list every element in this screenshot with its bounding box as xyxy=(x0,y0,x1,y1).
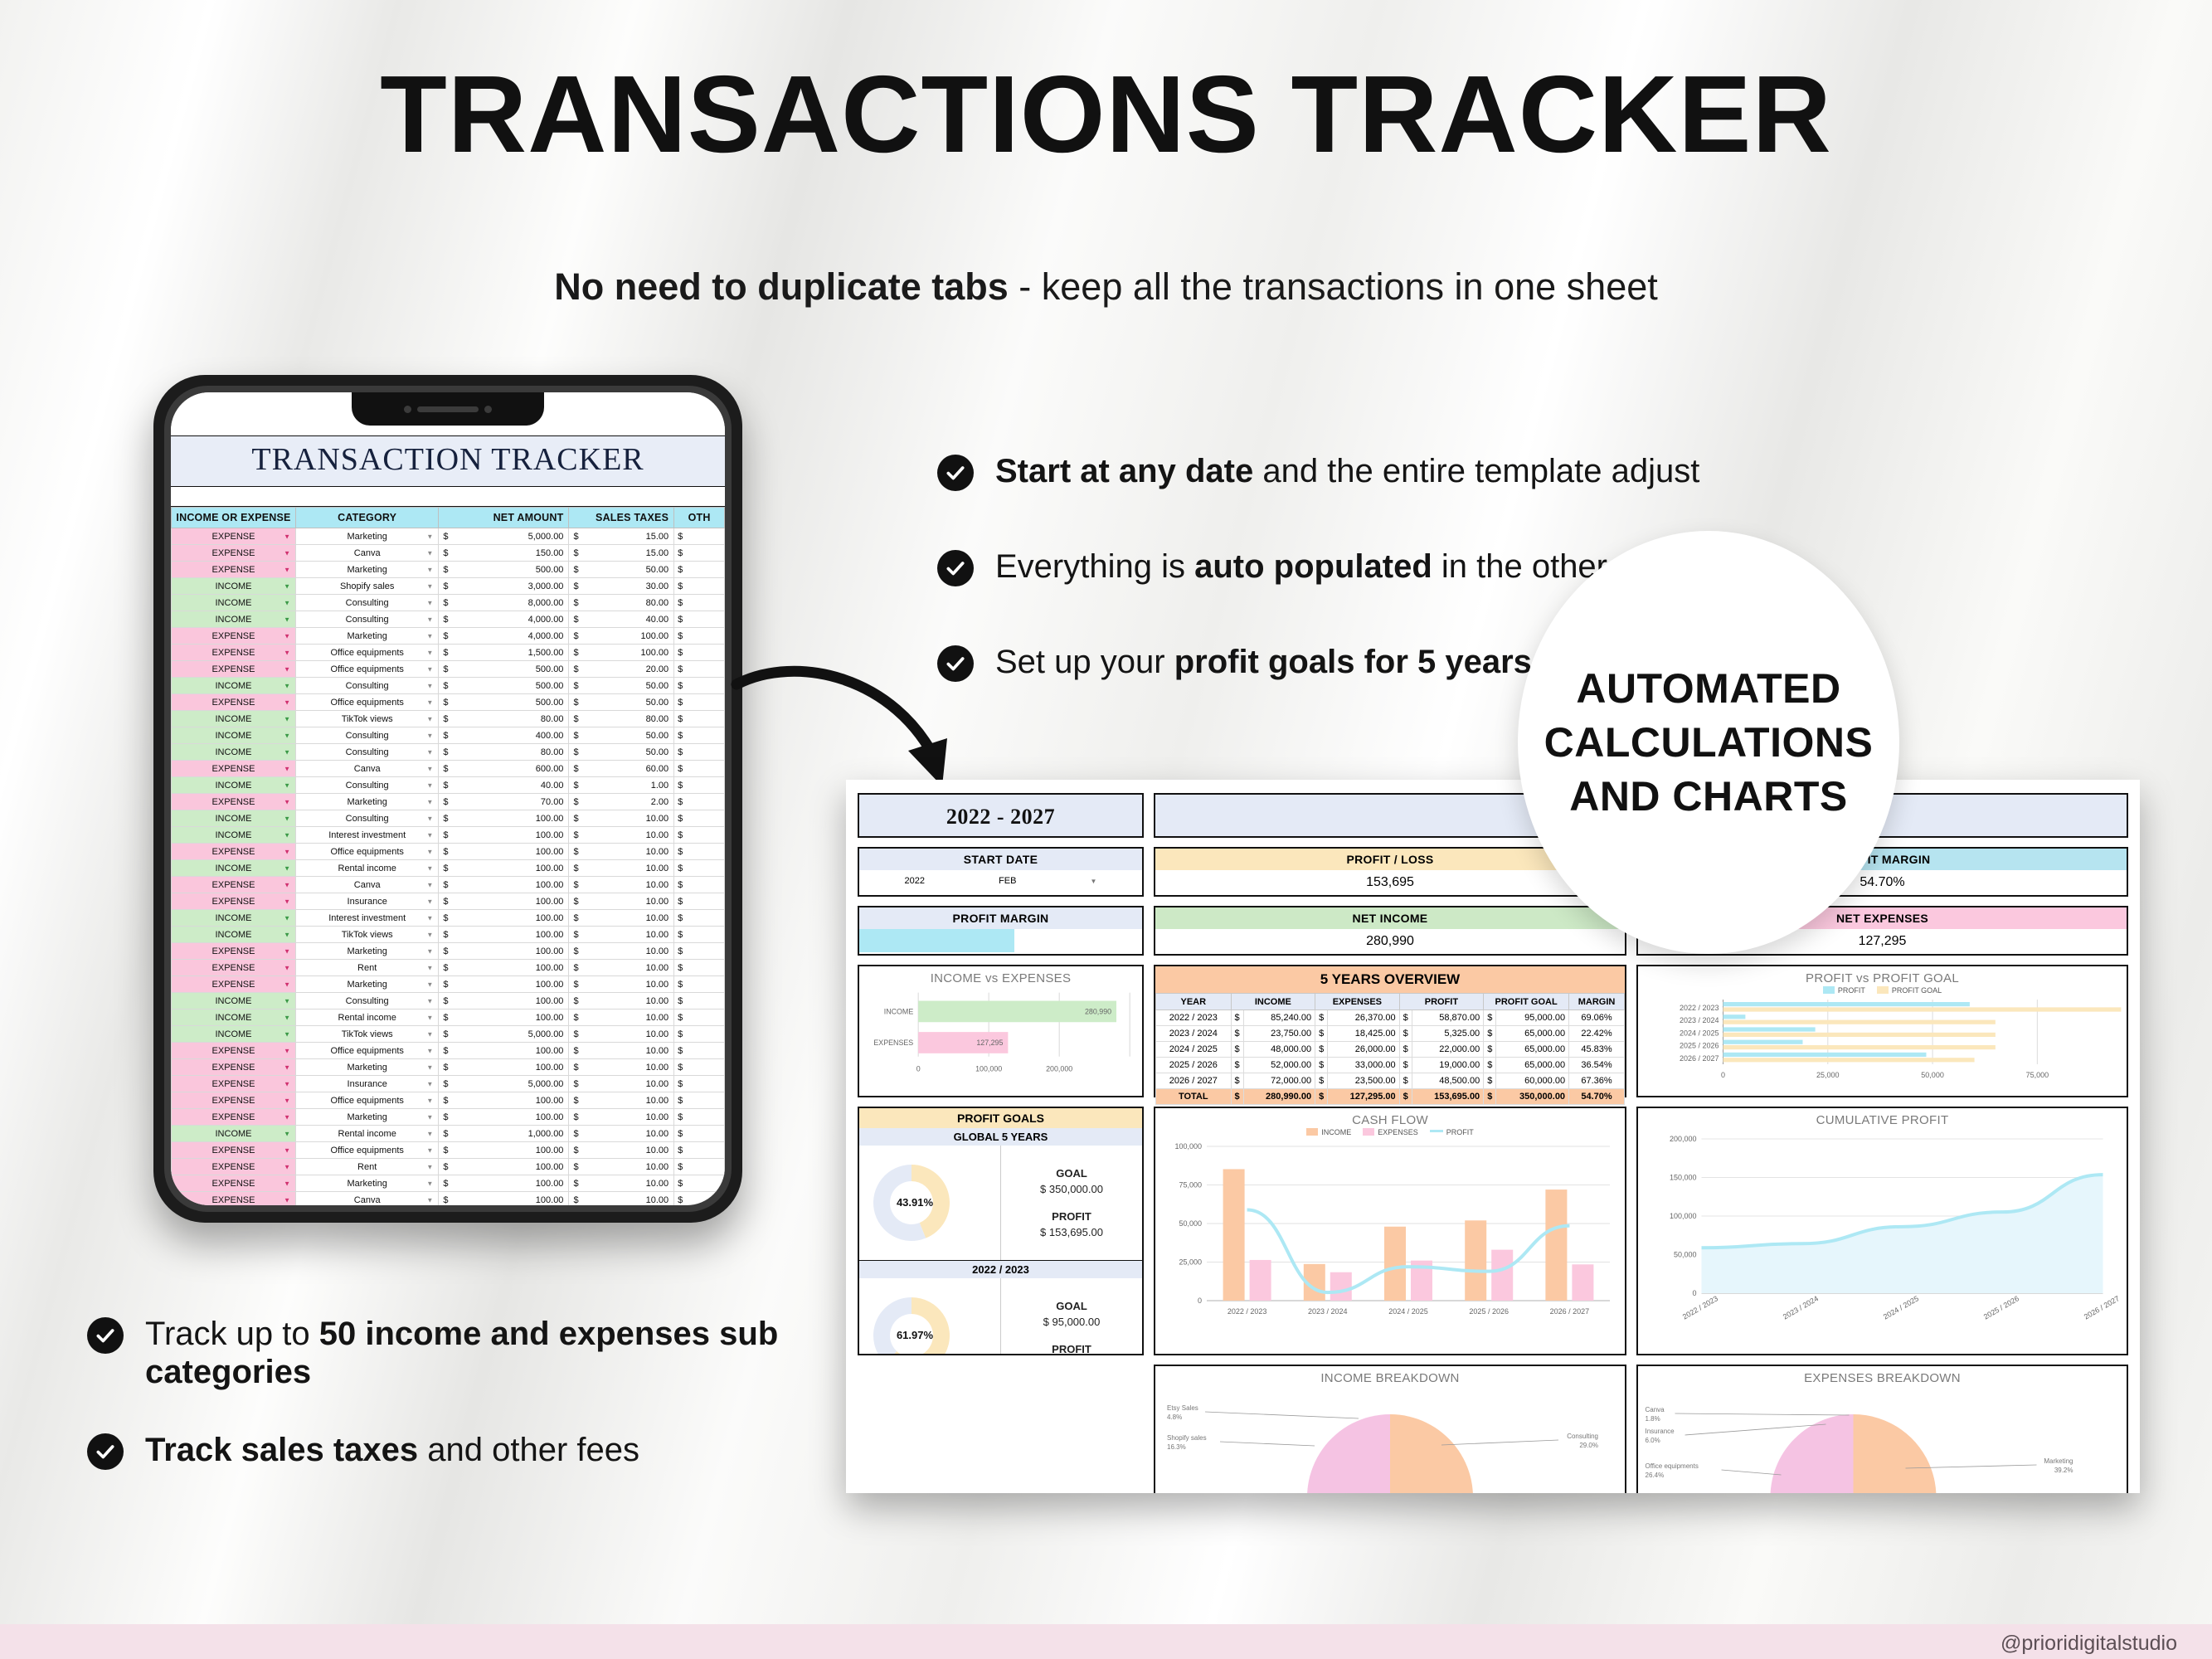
cell-type[interactable]: EXPENSE▼ xyxy=(172,1076,296,1092)
cell-type[interactable]: INCOME▼ xyxy=(172,711,296,727)
cell-category[interactable]: Consulting▼ xyxy=(296,777,439,794)
chevron-down-icon[interactable]: ▼ xyxy=(426,798,433,805)
cell-other[interactable]: $ xyxy=(674,1192,725,1206)
chevron-down-icon[interactable]: ▼ xyxy=(284,1063,290,1071)
cell-other[interactable]: $ xyxy=(674,1109,725,1126)
cell-category[interactable]: Office equipments▼ xyxy=(296,1092,439,1109)
cell-sales-taxes[interactable]: $40.00 xyxy=(569,611,674,628)
table-row[interactable]: EXPENSE▼Office equipments▼$1,500.00$100.… xyxy=(172,645,725,661)
cell-other[interactable]: $ xyxy=(674,1059,725,1076)
chevron-down-icon[interactable]: ▼ xyxy=(284,1097,290,1104)
cell-net-amount[interactable]: $100.00 xyxy=(439,910,569,927)
cell-other[interactable]: $ xyxy=(674,711,725,727)
cell-net-amount[interactable]: $100.00 xyxy=(439,960,569,976)
table-row[interactable]: EXPENSE▼Insurance▼$5,000.00$10.00$ xyxy=(172,1076,725,1092)
cell-net-amount[interactable]: $4,000.00 xyxy=(439,628,569,645)
chevron-down-icon[interactable]: ▼ xyxy=(426,732,433,739)
cell-other[interactable]: $ xyxy=(674,578,725,595)
chevron-down-icon[interactable]: ▼ xyxy=(426,815,433,822)
chevron-down-icon[interactable]: ▼ xyxy=(284,898,290,905)
chevron-down-icon[interactable]: ▼ xyxy=(426,748,433,756)
cell-other[interactable]: $ xyxy=(674,877,725,893)
cell-category[interactable]: Office equipments▼ xyxy=(296,645,439,661)
table-row[interactable]: EXPENSE▼Office equipments▼$500.00$20.00$ xyxy=(172,661,725,678)
chevron-down-icon[interactable]: ▼ xyxy=(284,698,290,706)
cell-category[interactable]: Consulting▼ xyxy=(296,727,439,744)
chevron-down-icon[interactable]: ▼ xyxy=(426,980,433,988)
cell-net-amount[interactable]: $80.00 xyxy=(439,711,569,727)
chevron-down-icon[interactable]: ▼ xyxy=(426,1080,433,1087)
cell-net-amount[interactable]: $100.00 xyxy=(439,1142,569,1159)
chevron-down-icon[interactable]: ▼ xyxy=(284,1146,290,1154)
cell-net-amount[interactable]: $4,000.00 xyxy=(439,611,569,628)
chevron-down-icon[interactable]: ▼ xyxy=(426,997,433,1005)
table-row[interactable]: EXPENSE▼Canva▼$100.00$10.00$ xyxy=(172,877,725,893)
cell-sales-taxes[interactable]: $10.00 xyxy=(569,1092,674,1109)
table-row[interactable]: EXPENSE▼Canva▼$150.00$15.00$ xyxy=(172,545,725,562)
cell-sales-taxes[interactable]: $15.00 xyxy=(569,528,674,545)
cell-other[interactable]: $ xyxy=(674,1010,725,1026)
chevron-down-icon[interactable]: ▼ xyxy=(284,682,290,689)
cell-net-amount[interactable]: $100.00 xyxy=(439,810,569,827)
cell-category[interactable]: Consulting▼ xyxy=(296,744,439,761)
cell-net-amount[interactable]: $100.00 xyxy=(439,844,569,860)
cell-net-amount[interactable]: $100.00 xyxy=(439,1159,569,1175)
table-row[interactable]: EXPENSE▼Rent▼$100.00$10.00$ xyxy=(172,960,725,976)
chevron-down-icon[interactable]: ▼ xyxy=(284,632,290,640)
table-row[interactable]: INCOME▼Consulting▼$80.00$50.00$ xyxy=(172,744,725,761)
chevron-down-icon[interactable]: ▼ xyxy=(284,649,290,656)
chevron-down-icon[interactable]: ▼ xyxy=(284,1080,290,1087)
cell-sales-taxes[interactable]: $10.00 xyxy=(569,827,674,844)
cell-sales-taxes[interactable]: $10.00 xyxy=(569,1192,674,1206)
cell-sales-taxes[interactable]: $20.00 xyxy=(569,661,674,678)
cell-type[interactable]: EXPENSE▼ xyxy=(172,960,296,976)
cell-net-amount[interactable]: $100.00 xyxy=(439,1010,569,1026)
cell-type[interactable]: INCOME▼ xyxy=(172,611,296,628)
cell-net-amount[interactable]: $500.00 xyxy=(439,562,569,578)
table-row[interactable]: EXPENSE▼Marketing▼$100.00$10.00$ xyxy=(172,1175,725,1192)
table-row[interactable]: EXPENSE▼Canva▼$100.00$10.00$ xyxy=(172,1192,725,1206)
cell-category[interactable]: Rental income▼ xyxy=(296,1126,439,1142)
chevron-down-icon[interactable]: ▼ xyxy=(284,1014,290,1021)
cell-type[interactable]: EXPENSE▼ xyxy=(172,943,296,960)
cell-category[interactable]: Consulting▼ xyxy=(296,678,439,694)
chevron-down-icon[interactable]: ▼ xyxy=(426,615,433,623)
chevron-down-icon[interactable]: ▼ xyxy=(284,1047,290,1054)
table-row[interactable]: EXPENSE▼Office equipments▼$100.00$10.00$ xyxy=(172,1092,725,1109)
cell-other[interactable]: $ xyxy=(674,1076,725,1092)
table-row[interactable]: INCOME▼TikTok views▼$80.00$80.00$ xyxy=(172,711,725,727)
cell-net-amount[interactable]: $500.00 xyxy=(439,678,569,694)
cell-category[interactable]: Interest investment▼ xyxy=(296,827,439,844)
cell-sales-taxes[interactable]: $10.00 xyxy=(569,1059,674,1076)
chevron-down-icon[interactable]: ▼ xyxy=(284,582,290,590)
table-row[interactable]: EXPENSE▼Marketing▼$100.00$10.00$ xyxy=(172,976,725,993)
cell-type[interactable]: INCOME▼ xyxy=(172,727,296,744)
cell-other[interactable]: $ xyxy=(674,694,725,711)
cell-type[interactable]: INCOME▼ xyxy=(172,810,296,827)
cell-sales-taxes[interactable]: $2.00 xyxy=(569,794,674,810)
start-date-selector[interactable]: 2022 FEB ▼ xyxy=(859,870,1142,892)
chevron-down-icon[interactable]: ▼ xyxy=(426,1146,433,1154)
cell-sales-taxes[interactable]: $10.00 xyxy=(569,1109,674,1126)
cell-sales-taxes[interactable]: $10.00 xyxy=(569,1175,674,1192)
cell-net-amount[interactable]: $100.00 xyxy=(439,1192,569,1206)
chevron-down-icon[interactable]: ▼ xyxy=(426,947,433,955)
cell-sales-taxes[interactable]: $80.00 xyxy=(569,711,674,727)
chevron-down-icon[interactable]: ▼ xyxy=(426,649,433,656)
cell-sales-taxes[interactable]: $10.00 xyxy=(569,1159,674,1175)
cell-other[interactable]: $ xyxy=(674,893,725,910)
cell-type[interactable]: EXPENSE▼ xyxy=(172,1092,296,1109)
cell-net-amount[interactable]: $500.00 xyxy=(439,661,569,678)
cell-net-amount[interactable]: $8,000.00 xyxy=(439,595,569,611)
cell-net-amount[interactable]: $600.00 xyxy=(439,761,569,777)
cell-type[interactable]: INCOME▼ xyxy=(172,927,296,943)
cell-type[interactable]: INCOME▼ xyxy=(172,595,296,611)
table-row[interactable]: EXPENSE▼Office equipments▼$100.00$10.00$ xyxy=(172,844,725,860)
chevron-down-icon[interactable]: ▼ xyxy=(426,848,433,855)
cell-category[interactable]: Canva▼ xyxy=(296,1192,439,1206)
cell-other[interactable]: $ xyxy=(674,562,725,578)
cell-category[interactable]: TikTok views▼ xyxy=(296,927,439,943)
table-row[interactable]: EXPENSE▼Office equipments▼$100.00$10.00$ xyxy=(172,1142,725,1159)
cell-category[interactable]: Marketing▼ xyxy=(296,528,439,545)
cell-type[interactable]: INCOME▼ xyxy=(172,993,296,1010)
cell-type[interactable]: EXPENSE▼ xyxy=(172,1109,296,1126)
cell-sales-taxes[interactable]: $100.00 xyxy=(569,645,674,661)
cell-sales-taxes[interactable]: $10.00 xyxy=(569,927,674,943)
cell-other[interactable]: $ xyxy=(674,595,725,611)
cell-type[interactable]: INCOME▼ xyxy=(172,860,296,877)
cell-sales-taxes[interactable]: $10.00 xyxy=(569,910,674,927)
cell-type[interactable]: EXPENSE▼ xyxy=(172,1175,296,1192)
cell-category[interactable]: Canva▼ xyxy=(296,877,439,893)
chevron-down-icon[interactable]: ▼ xyxy=(284,964,290,971)
cell-net-amount[interactable]: $100.00 xyxy=(439,1175,569,1192)
cell-net-amount[interactable]: $3,000.00 xyxy=(439,578,569,595)
chevron-down-icon[interactable]: ▼ xyxy=(426,1047,433,1054)
chevron-down-icon[interactable]: ▼ xyxy=(284,980,290,988)
cell-type[interactable]: INCOME▼ xyxy=(172,827,296,844)
cell-other[interactable]: $ xyxy=(674,1175,725,1192)
cell-category[interactable]: Marketing▼ xyxy=(296,794,439,810)
table-row[interactable]: INCOME▼TikTok views▼$5,000.00$10.00$ xyxy=(172,1026,725,1043)
cell-category[interactable]: Marketing▼ xyxy=(296,943,439,960)
cell-type[interactable]: EXPENSE▼ xyxy=(172,1192,296,1206)
cell-type[interactable]: EXPENSE▼ xyxy=(172,976,296,993)
chevron-down-icon[interactable]: ▼ xyxy=(426,864,433,872)
chevron-down-icon[interactable]: ▼ xyxy=(426,881,433,888)
table-row[interactable]: INCOME▼TikTok views▼$100.00$10.00$ xyxy=(172,927,725,943)
chevron-down-icon[interactable]: ▼ xyxy=(284,864,290,872)
chevron-down-icon[interactable]: ▼ xyxy=(284,732,290,739)
cell-category[interactable]: Office equipments▼ xyxy=(296,1142,439,1159)
cell-other[interactable]: $ xyxy=(674,727,725,744)
cell-type[interactable]: INCOME▼ xyxy=(172,578,296,595)
table-row[interactable]: EXPENSE▼Canva▼$600.00$60.00$ xyxy=(172,761,725,777)
table-row[interactable]: EXPENSE▼Office equipments▼$500.00$50.00$ xyxy=(172,694,725,711)
cell-category[interactable]: Rental income▼ xyxy=(296,860,439,877)
cell-type[interactable]: EXPENSE▼ xyxy=(172,661,296,678)
cell-other[interactable]: $ xyxy=(674,844,725,860)
chevron-down-icon[interactable]: ▼ xyxy=(284,781,290,789)
cell-type[interactable]: EXPENSE▼ xyxy=(172,877,296,893)
cell-other[interactable]: $ xyxy=(674,678,725,694)
chevron-down-icon[interactable]: ▼ xyxy=(426,1030,433,1038)
table-row[interactable]: INCOME▼Rental income▼$1,000.00$10.00$ xyxy=(172,1126,725,1142)
cell-net-amount[interactable]: $150.00 xyxy=(439,545,569,562)
cell-sales-taxes[interactable]: $10.00 xyxy=(569,960,674,976)
cell-other[interactable]: $ xyxy=(674,744,725,761)
cell-sales-taxes[interactable]: $50.00 xyxy=(569,562,674,578)
cell-type[interactable]: INCOME▼ xyxy=(172,744,296,761)
chevron-down-icon[interactable]: ▼ xyxy=(426,549,433,557)
cell-net-amount[interactable]: $400.00 xyxy=(439,727,569,744)
cell-sales-taxes[interactable]: $80.00 xyxy=(569,595,674,611)
cell-other[interactable]: $ xyxy=(674,927,725,943)
chevron-down-icon[interactable]: ▼ xyxy=(426,665,433,673)
chevron-down-icon[interactable]: ▼ xyxy=(284,931,290,938)
cell-sales-taxes[interactable]: $10.00 xyxy=(569,860,674,877)
cell-other[interactable]: $ xyxy=(674,910,725,927)
chevron-down-icon[interactable]: ▼ xyxy=(284,665,290,673)
cell-category[interactable]: Office equipments▼ xyxy=(296,844,439,860)
cell-type[interactable]: EXPENSE▼ xyxy=(172,528,296,545)
table-row[interactable]: INCOME▼Consulting▼$40.00$1.00$ xyxy=(172,777,725,794)
cell-sales-taxes[interactable]: $10.00 xyxy=(569,810,674,827)
table-row[interactable]: EXPENSE▼Insurance▼$100.00$10.00$ xyxy=(172,893,725,910)
cell-other[interactable]: $ xyxy=(674,528,725,545)
cell-net-amount[interactable]: $100.00 xyxy=(439,827,569,844)
cell-type[interactable]: EXPENSE▼ xyxy=(172,545,296,562)
cell-type[interactable]: EXPENSE▼ xyxy=(172,1159,296,1175)
chevron-down-icon[interactable]: ▼ xyxy=(284,748,290,756)
cell-net-amount[interactable]: $100.00 xyxy=(439,993,569,1010)
cell-net-amount[interactable]: $5,000.00 xyxy=(439,1076,569,1092)
cell-net-amount[interactable]: $1,500.00 xyxy=(439,645,569,661)
cell-sales-taxes[interactable]: $10.00 xyxy=(569,877,674,893)
cell-other[interactable]: $ xyxy=(674,1159,725,1175)
cell-sales-taxes[interactable]: $10.00 xyxy=(569,943,674,960)
cell-sales-taxes[interactable]: $60.00 xyxy=(569,761,674,777)
cell-net-amount[interactable]: $40.00 xyxy=(439,777,569,794)
cell-category[interactable]: Consulting▼ xyxy=(296,595,439,611)
cell-category[interactable]: TikTok views▼ xyxy=(296,1026,439,1043)
table-row[interactable]: EXPENSE▼Marketing▼$100.00$10.00$ xyxy=(172,943,725,960)
cell-category[interactable]: TikTok views▼ xyxy=(296,711,439,727)
cell-net-amount[interactable]: $1,000.00 xyxy=(439,1126,569,1142)
cell-type[interactable]: EXPENSE▼ xyxy=(172,562,296,578)
cell-net-amount[interactable]: $70.00 xyxy=(439,794,569,810)
cell-other[interactable]: $ xyxy=(674,960,725,976)
cell-sales-taxes[interactable]: $10.00 xyxy=(569,976,674,993)
cell-category[interactable]: Office equipments▼ xyxy=(296,694,439,711)
cell-other[interactable]: $ xyxy=(674,761,725,777)
cell-sales-taxes[interactable]: $100.00 xyxy=(569,628,674,645)
cell-type[interactable]: EXPENSE▼ xyxy=(172,1043,296,1059)
cell-type[interactable]: EXPENSE▼ xyxy=(172,761,296,777)
cell-sales-taxes[interactable]: $50.00 xyxy=(569,678,674,694)
cell-net-amount[interactable]: $80.00 xyxy=(439,744,569,761)
cell-net-amount[interactable]: $100.00 xyxy=(439,1059,569,1076)
table-row[interactable]: EXPENSE▼Marketing▼$100.00$10.00$ xyxy=(172,1059,725,1076)
chevron-down-icon[interactable]: ▼ xyxy=(426,599,433,606)
cell-type[interactable]: INCOME▼ xyxy=(172,678,296,694)
cell-type[interactable]: INCOME▼ xyxy=(172,1026,296,1043)
cell-sales-taxes[interactable]: $50.00 xyxy=(569,694,674,711)
table-row[interactable]: INCOME▼Consulting▼$8,000.00$80.00$ xyxy=(172,595,725,611)
table-row[interactable]: INCOME▼Consulting▼$4,000.00$40.00$ xyxy=(172,611,725,628)
cell-type[interactable]: EXPENSE▼ xyxy=(172,893,296,910)
chevron-down-icon[interactable]: ▼ xyxy=(284,848,290,855)
chevron-down-icon[interactable]: ▼ xyxy=(426,1180,433,1187)
chevron-down-icon[interactable]: ▼ xyxy=(426,1014,433,1021)
chevron-down-icon[interactable]: ▼ xyxy=(284,715,290,722)
table-row[interactable]: EXPENSE▼Marketing▼$5,000.00$15.00$ xyxy=(172,528,725,545)
cell-sales-taxes[interactable]: $10.00 xyxy=(569,893,674,910)
table-row[interactable]: INCOME▼Shopify sales▼$3,000.00$30.00$ xyxy=(172,578,725,595)
chevron-down-icon[interactable]: ▼ xyxy=(284,1163,290,1170)
cell-category[interactable]: Canva▼ xyxy=(296,761,439,777)
cell-type[interactable]: EXPENSE▼ xyxy=(172,844,296,860)
cell-sales-taxes[interactable]: $10.00 xyxy=(569,844,674,860)
chevron-down-icon[interactable]: ▼ xyxy=(284,599,290,606)
table-row[interactable]: INCOME▼Consulting▼$100.00$10.00$ xyxy=(172,810,725,827)
chevron-down-icon[interactable]: ▼ xyxy=(426,964,433,971)
chevron-down-icon[interactable]: ▼ xyxy=(426,1097,433,1104)
cell-other[interactable]: $ xyxy=(674,976,725,993)
cell-net-amount[interactable]: $100.00 xyxy=(439,976,569,993)
chevron-down-icon[interactable]: ▼ xyxy=(426,781,433,789)
cell-category[interactable]: Marketing▼ xyxy=(296,562,439,578)
chevron-down-icon[interactable]: ▼ xyxy=(426,632,433,640)
chevron-down-icon[interactable]: ▼ xyxy=(426,1130,433,1137)
cell-net-amount[interactable]: $100.00 xyxy=(439,943,569,960)
chevron-down-icon[interactable]: ▼ xyxy=(426,582,433,590)
chevron-down-icon[interactable]: ▼ xyxy=(284,815,290,822)
chevron-down-icon[interactable]: ▼ xyxy=(426,1196,433,1204)
cell-other[interactable]: $ xyxy=(674,860,725,877)
chevron-down-icon[interactable]: ▼ xyxy=(284,1196,290,1204)
table-row[interactable]: INCOME▼Consulting▼$100.00$10.00$ xyxy=(172,993,725,1010)
table-row[interactable]: INCOME▼Consulting▼$400.00$50.00$ xyxy=(172,727,725,744)
cell-other[interactable]: $ xyxy=(674,827,725,844)
cell-other[interactable]: $ xyxy=(674,628,725,645)
cell-category[interactable]: Marketing▼ xyxy=(296,1059,439,1076)
cell-sales-taxes[interactable]: $10.00 xyxy=(569,1076,674,1092)
cell-type[interactable]: INCOME▼ xyxy=(172,910,296,927)
cell-category[interactable]: Marketing▼ xyxy=(296,976,439,993)
cell-other[interactable]: $ xyxy=(674,794,725,810)
cell-sales-taxes[interactable]: $10.00 xyxy=(569,1026,674,1043)
chevron-down-icon[interactable]: ▼ xyxy=(284,1130,290,1137)
cell-type[interactable]: EXPENSE▼ xyxy=(172,645,296,661)
cell-other[interactable]: $ xyxy=(674,611,725,628)
cell-type[interactable]: EXPENSE▼ xyxy=(172,1059,296,1076)
chevron-down-icon[interactable]: ▼ xyxy=(426,898,433,905)
cell-net-amount[interactable]: $100.00 xyxy=(439,1092,569,1109)
cell-other[interactable]: $ xyxy=(674,777,725,794)
table-row[interactable]: EXPENSE▼Office equipments▼$100.00$10.00$ xyxy=(172,1043,725,1059)
table-row[interactable]: INCOME▼Interest investment▼$100.00$10.00… xyxy=(172,910,725,927)
cell-other[interactable]: $ xyxy=(674,1126,725,1142)
table-row[interactable]: INCOME▼Rental income▼$100.00$10.00$ xyxy=(172,1010,725,1026)
cell-category[interactable]: Shopify sales▼ xyxy=(296,578,439,595)
cell-category[interactable]: Rental income▼ xyxy=(296,1010,439,1026)
chevron-down-icon[interactable]: ▼ xyxy=(284,549,290,557)
cell-category[interactable]: Canva▼ xyxy=(296,545,439,562)
cell-sales-taxes[interactable]: $10.00 xyxy=(569,1043,674,1059)
chevron-down-icon[interactable]: ▼ xyxy=(426,1163,433,1170)
cell-type[interactable]: EXPENSE▼ xyxy=(172,1142,296,1159)
table-row[interactable]: INCOME▼Rental income▼$100.00$10.00$ xyxy=(172,860,725,877)
cell-category[interactable]: Marketing▼ xyxy=(296,1175,439,1192)
cell-net-amount[interactable]: $100.00 xyxy=(439,1043,569,1059)
cell-other[interactable]: $ xyxy=(674,1092,725,1109)
chevron-down-icon[interactable]: ▼ xyxy=(426,765,433,772)
chevron-down-icon[interactable]: ▼ xyxy=(284,914,290,922)
cell-other[interactable]: $ xyxy=(674,1026,725,1043)
table-row[interactable]: EXPENSE▼Rent▼$100.00$10.00$ xyxy=(172,1159,725,1175)
table-row[interactable]: EXPENSE▼Marketing▼$4,000.00$100.00$ xyxy=(172,628,725,645)
cell-category[interactable]: Rent▼ xyxy=(296,960,439,976)
chevron-down-icon[interactable]: ▼ xyxy=(284,1030,290,1038)
chevron-down-icon[interactable]: ▼ xyxy=(426,698,433,706)
cell-type[interactable]: EXPENSE▼ xyxy=(172,694,296,711)
cell-sales-taxes[interactable]: $50.00 xyxy=(569,744,674,761)
chevron-down-icon[interactable]: ▼ xyxy=(426,533,433,540)
cell-other[interactable]: $ xyxy=(674,993,725,1010)
cell-other[interactable]: $ xyxy=(674,1043,725,1059)
cell-type[interactable]: INCOME▼ xyxy=(172,1010,296,1026)
chevron-down-icon[interactable]: ▼ xyxy=(426,715,433,722)
table-row[interactable]: EXPENSE▼Marketing▼$100.00$10.00$ xyxy=(172,1109,725,1126)
cell-category[interactable]: Consulting▼ xyxy=(296,611,439,628)
cell-other[interactable]: $ xyxy=(674,645,725,661)
chevron-down-icon[interactable]: ▼ xyxy=(426,931,433,938)
cell-category[interactable]: Consulting▼ xyxy=(296,810,439,827)
cell-category[interactable]: Insurance▼ xyxy=(296,893,439,910)
chevron-down-icon[interactable]: ▼ xyxy=(284,1113,290,1121)
chevron-down-icon[interactable]: ▼ xyxy=(284,947,290,955)
table-row[interactable]: EXPENSE▼Marketing▼$500.00$50.00$ xyxy=(172,562,725,578)
chevron-down-icon[interactable]: ▼ xyxy=(426,682,433,689)
cell-type[interactable]: INCOME▼ xyxy=(172,777,296,794)
cell-type[interactable]: EXPENSE▼ xyxy=(172,794,296,810)
chevron-down-icon[interactable]: ▼ xyxy=(284,831,290,839)
chevron-down-icon[interactable]: ▼ xyxy=(426,566,433,573)
cell-category[interactable]: Consulting▼ xyxy=(296,993,439,1010)
cell-net-amount[interactable]: $5,000.00 xyxy=(439,1026,569,1043)
cell-category[interactable]: Marketing▼ xyxy=(296,628,439,645)
cell-other[interactable]: $ xyxy=(674,810,725,827)
cell-other[interactable]: $ xyxy=(674,1142,725,1159)
table-row[interactable]: INCOME▼Interest investment▼$100.00$10.00… xyxy=(172,827,725,844)
chevron-down-icon[interactable]: ▼ xyxy=(284,615,290,623)
cell-sales-taxes[interactable]: $10.00 xyxy=(569,1142,674,1159)
cell-other[interactable]: $ xyxy=(674,943,725,960)
cell-net-amount[interactable]: $100.00 xyxy=(439,860,569,877)
table-row[interactable]: EXPENSE▼Marketing▼$70.00$2.00$ xyxy=(172,794,725,810)
cell-sales-taxes[interactable]: $10.00 xyxy=(569,1126,674,1142)
cell-sales-taxes[interactable]: $10.00 xyxy=(569,1010,674,1026)
chevron-down-icon[interactable]: ▼ xyxy=(284,533,290,540)
cell-category[interactable]: Interest investment▼ xyxy=(296,910,439,927)
cell-net-amount[interactable]: $100.00 xyxy=(439,893,569,910)
chevron-down-icon[interactable]: ▼ xyxy=(284,997,290,1005)
